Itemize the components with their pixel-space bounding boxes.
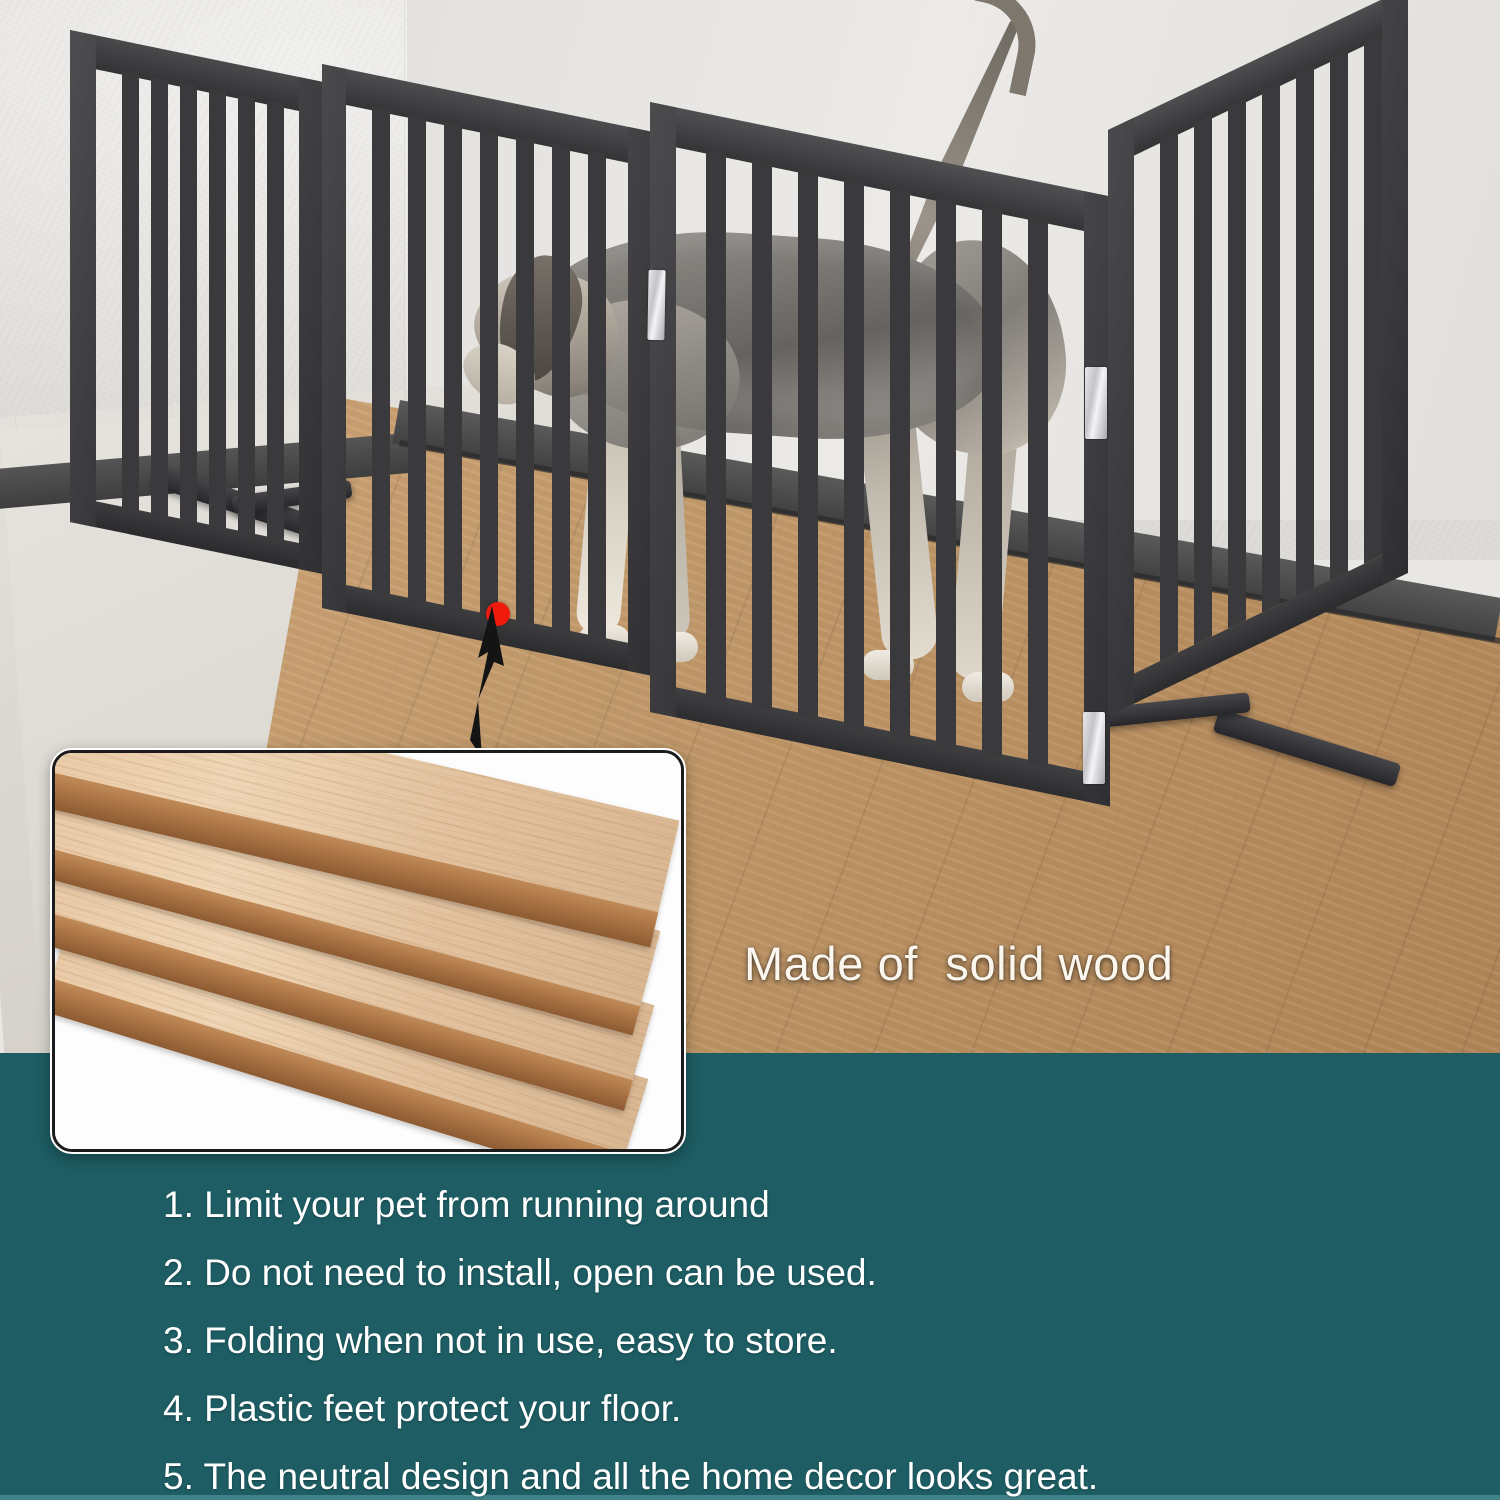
solid-wood-closeup-inset — [50, 748, 686, 1154]
slat — [844, 178, 864, 730]
panel-1-left-stile — [70, 30, 96, 527]
slat — [1330, 50, 1348, 581]
product-infographic: Made of solid wood 1. Limit your pet fro… — [0, 0, 1500, 1500]
slat — [444, 121, 462, 613]
panel-4-top-rail — [1108, 0, 1408, 168]
slat — [180, 83, 197, 526]
panel-1-top-rail — [70, 30, 325, 116]
slat — [1364, 33, 1382, 564]
slat — [122, 71, 139, 514]
slat — [798, 168, 818, 720]
slat — [238, 94, 255, 537]
hinge-icon — [647, 270, 665, 340]
slat — [936, 197, 956, 749]
list-item: 2. Do not need to install, open can be u… — [163, 1254, 1463, 1291]
list-item: 4. Plastic feet protect your floor. — [163, 1390, 1463, 1427]
panel-2-right-stile — [628, 127, 652, 676]
hinge-icon — [1085, 367, 1107, 439]
slat — [1262, 82, 1280, 613]
headline-made-of-solid-wood: Made of solid wood — [744, 936, 1173, 991]
slat — [706, 149, 726, 701]
panel-2-left-stile — [322, 64, 346, 613]
slat — [552, 143, 570, 635]
list-item: 5. The neutral design and all the home d… — [163, 1458, 1463, 1495]
slat — [480, 128, 498, 620]
slat — [1194, 114, 1212, 645]
slat — [516, 136, 534, 628]
panel-4-right-stile — [1382, 0, 1408, 585]
slat — [1160, 131, 1178, 662]
gate-panel-3 — [650, 102, 1110, 896]
slat — [1228, 98, 1246, 629]
panel-4-left-stile — [1108, 118, 1134, 716]
slat — [752, 159, 772, 711]
slat — [1296, 66, 1314, 597]
hinge-icon — [1083, 712, 1105, 784]
slat — [151, 77, 168, 520]
gate-panel-4 — [1108, 0, 1408, 830]
slat — [588, 151, 606, 643]
panel-4-bottom-rail — [1108, 543, 1408, 716]
slat — [267, 100, 284, 543]
slat — [372, 106, 390, 598]
slat — [982, 206, 1002, 758]
feature-list: 1. Limit your pet from running around 2.… — [163, 1186, 1463, 1500]
slat — [209, 89, 226, 532]
panel-3-left-stile — [650, 102, 676, 717]
slat — [1028, 216, 1048, 768]
list-item: 1. Limit your pet from running around — [163, 1186, 1463, 1223]
list-item: 3. Folding when not in use, easy to stor… — [163, 1322, 1463, 1359]
slat — [890, 187, 910, 739]
slat — [408, 114, 426, 606]
panel-1-bottom-rail — [70, 496, 325, 574]
gate-panel-1 — [70, 30, 325, 627]
